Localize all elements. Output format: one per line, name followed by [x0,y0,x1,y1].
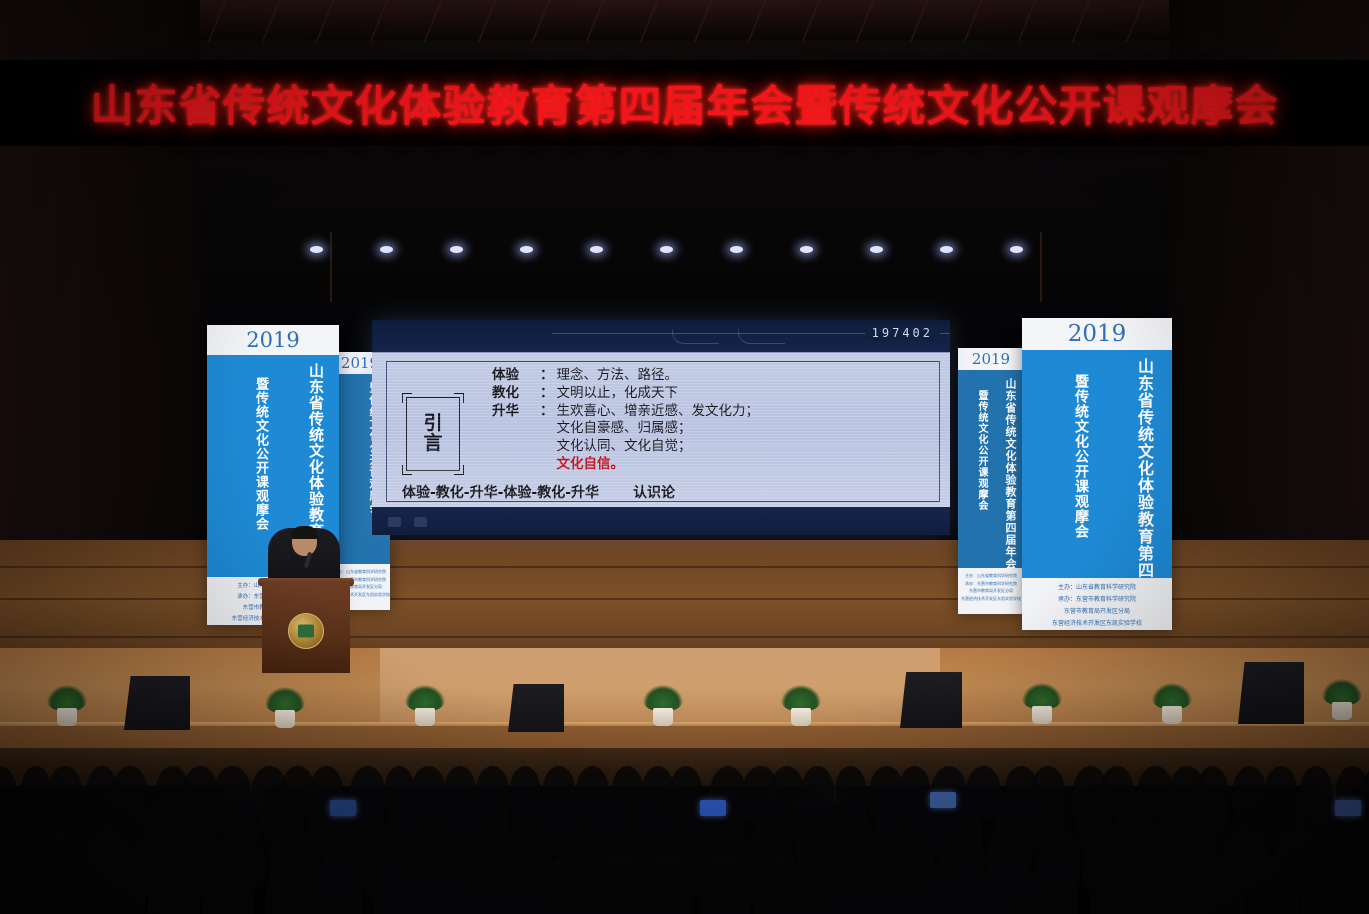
stage-light-row [310,246,1050,262]
banner-credit: 承办：东营市教育科学研究院 [958,580,1024,588]
slide-canvas: 引 言 体验 ： 理念、方法、路径。 教化 ： 文明以止，化成天下 [372,352,950,508]
slide-line: 教化 ： 文明以止，化成天下 [492,385,932,403]
stage-light [1010,246,1023,253]
ceiling-slat [532,0,551,42]
audience-phone-screen [330,800,356,816]
slide-page-number: 197402 [865,325,940,341]
stage-light [310,246,323,253]
banner-credit: 东营经济技术开发区东凯实验学校 [958,595,1024,603]
stage-light [870,246,883,253]
seal-char-2: 言 [423,434,442,454]
stage-monitor-speaker [508,684,564,732]
slide-summary-row: 体验-教化-升华-体验-教化-升华 认识论 [402,482,936,502]
ceiling-slat [316,0,335,42]
stage-light [380,246,393,253]
rollup-banner-right-rear: 2019 山东省传统文化体验教育第四届年会 暨传统文化公开课观摩会 主办：山东省… [958,348,1024,614]
audience-phone-screen [700,800,726,816]
potted-plant [1018,678,1066,724]
stage-light [660,246,673,253]
banner-year: 2019 [207,325,339,355]
seal-char-1: 引 [423,414,442,434]
potted-plant [640,682,686,726]
school-crest-icon [288,613,324,649]
stage-monitor-speaker [900,672,962,728]
ceiling-slat [586,0,605,42]
rollup-banner-right-front: 2019 山东省传统文化体验教育第四届年会 暨传统文化公开课观摩会 主办：山东省… [1022,318,1172,630]
slide-line-highlight: 升华 文化自信。 [492,456,932,474]
ceiling-panel [0,0,1369,40]
ceiling-slat [964,0,983,42]
ceiling-slat [424,0,443,42]
seal-corner-bl [402,465,412,475]
seal-corner-br [454,465,464,475]
audience-silhouettes [0,748,1369,914]
ceiling-slat [1018,0,1037,42]
led-headline-banner: 山东省传统文化体验教育第四届年会暨传统文化公开课观摩会 [0,60,1369,146]
ceiling-slat [694,0,713,42]
banner-title-main: 山东省传统文化体验教育第四届年会 [1135,358,1152,578]
speaker-hair [291,526,318,539]
stage-light [450,246,463,253]
slide-line: 升华 ： 生欢喜心、增亲近感、发文化力； [492,403,932,421]
potted-plant [402,684,448,726]
ceiling-slat [1072,0,1091,42]
banner-credit: 东营经济技术开发区东凯实验学校 [1022,618,1172,630]
potted-plant [778,684,824,726]
audience-phone-screen [1335,800,1361,816]
slide-summary-chain: 体验-教化-升华-体验-教化-升华 [402,482,599,502]
headline-text: 山东省传统文化体验教育第四届年会暨传统文化公开课观摩会 [91,72,1279,134]
ceiling-slat [1126,0,1145,42]
stage-monitor-speaker [1238,662,1304,724]
projection-screen[interactable]: 197402 引 言 体验 ： 理念、方法、路径。 教化 ： [372,320,950,535]
slide-line: 体验 ： 理念、方法、路径。 [492,367,932,385]
ceiling-slat [856,0,875,42]
stage-monitor-speaker [124,676,190,730]
podium [262,583,350,673]
stage-light [590,246,603,253]
truss-pole-left [330,232,332,302]
grid-icon[interactable] [388,517,401,527]
slide-footer-bar [372,507,950,535]
seal-corner-tl [402,393,412,403]
auditorium-stage-photo: 山东省传统文化体验教育第四届年会暨传统文化公开课观摩会 2019 暨传统文化公开… [0,0,1369,914]
ceiling-slat [640,0,659,42]
slide-summary-tag: 认识论 [633,482,675,502]
display-icon[interactable] [414,517,427,527]
stage-light [800,246,813,253]
slide-header-bar: 197402 [372,320,950,352]
ceiling-slat [208,0,227,42]
slide-line: 升华 文化自豪感、归属感； [492,420,932,438]
banner-year: 2019 [958,348,1024,370]
potted-plant [1148,678,1196,724]
banner-credit: 主办：山东省教育科学研究院 [1022,582,1172,594]
banner-title-sub: 暨传统文化公开课观摩会 [975,390,986,511]
banner-year: 2019 [1022,318,1172,350]
banner-title-main: 山东省传统文化体验教育第四届年会 [1004,378,1016,568]
slide-seal-box: 引 言 [406,397,460,471]
ceiling-slat [910,0,929,42]
stage-light [520,246,533,253]
ceiling-slat [478,0,497,42]
banner-title-sub: 暨传统文化公开课观摩会 [1073,374,1088,539]
stage-light [730,246,743,253]
ceiling-slat [370,0,389,42]
slide-body-lines: 体验 ： 理念、方法、路径。 教化 ： 文明以止，化成天下 升华 ： 生欢喜心、… [492,367,932,474]
banner-credit: 承办：东营市教育科学研究院 [1022,594,1172,606]
ceiling-slat [748,0,767,42]
banner-credit: 东营市教育局开发区分局 [958,587,1024,595]
ceiling-slat [802,0,821,42]
ceiling-slat [262,0,281,42]
potted-plant [44,684,90,726]
stage-light [940,246,953,253]
potted-plant [1318,672,1366,720]
slide-line: 升华 文化认同、文化自觉； [492,438,932,456]
potted-plant [262,688,308,728]
banner-credit: 主办：山东省教育科学研究院 [958,572,1024,580]
audience-phone-screen [930,792,956,808]
truss-pole-right [1040,232,1042,302]
banner-title-sub: 暨传统文化公开课观摩会 [253,377,267,531]
banner-credit: 东营市教育局开发区分局 [1022,606,1172,618]
seal-corner-tr [454,393,464,403]
